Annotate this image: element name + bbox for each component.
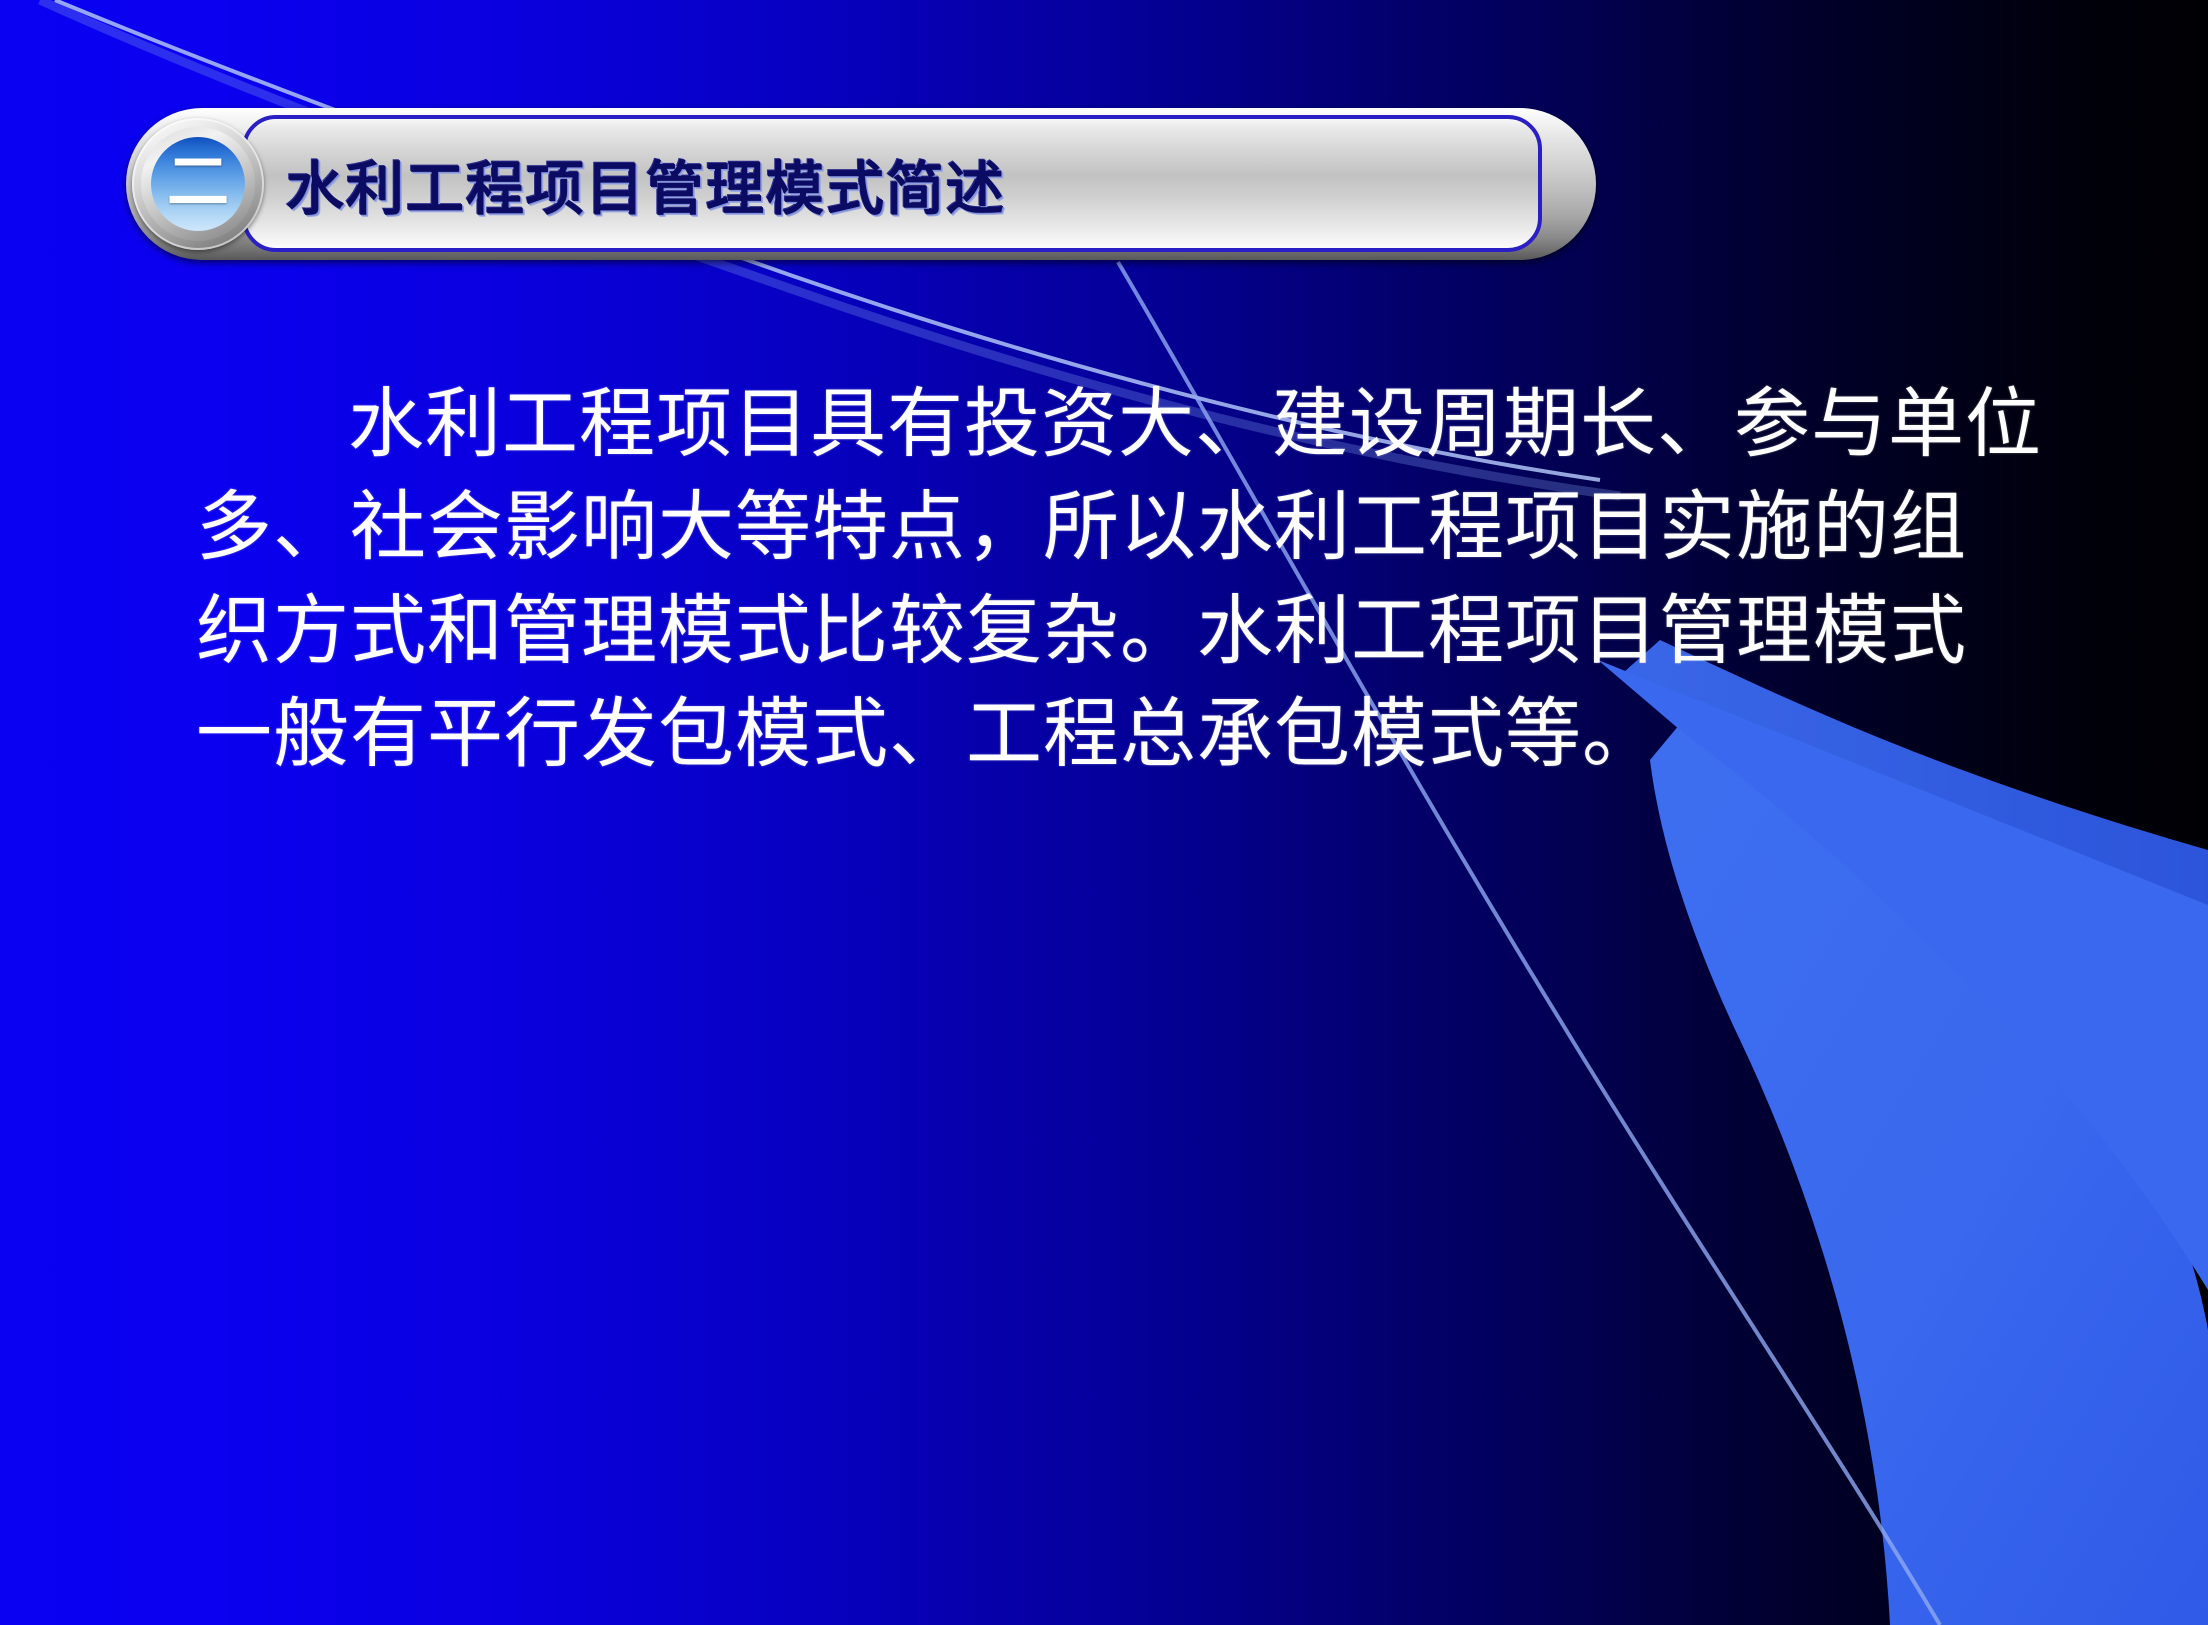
body-line: 织方式和管理模式比较复杂。水利工程项目管理模式 (196, 579, 2076, 682)
page-title: 水利工程项目管理模式简述 (286, 142, 1006, 226)
badge-inner-disc: 二 (151, 137, 245, 231)
body-line: 水利工程项目具有投资大、建设周期长、参与单位 (196, 372, 2076, 475)
sail-shape-right (1650, 700, 2208, 1625)
badge-ring: 二 (141, 127, 255, 241)
body-line: 多、社会影响大等特点，所以水利工程项目实施的组 (196, 475, 2076, 578)
slide-title-bar: 水利工程项目管理模式简述 二 (126, 108, 1596, 260)
body-line: 一般有平行发包模式、工程总承包模式等。 (196, 682, 2076, 785)
slide-body-text: 水利工程项目具有投资大、建设周期长、参与单位 多、社会影响大等特点，所以水利工程… (196, 372, 2076, 785)
presentation-slide: 水利工程项目管理模式简述 二 水利工程项目具有投资大、建设周期长、参与单位 多、… (0, 0, 2208, 1625)
title-plate: 水利工程项目管理模式简述 (242, 115, 1542, 252)
section-number-icon: 二 (167, 151, 229, 213)
section-number-badge: 二 (132, 118, 264, 250)
